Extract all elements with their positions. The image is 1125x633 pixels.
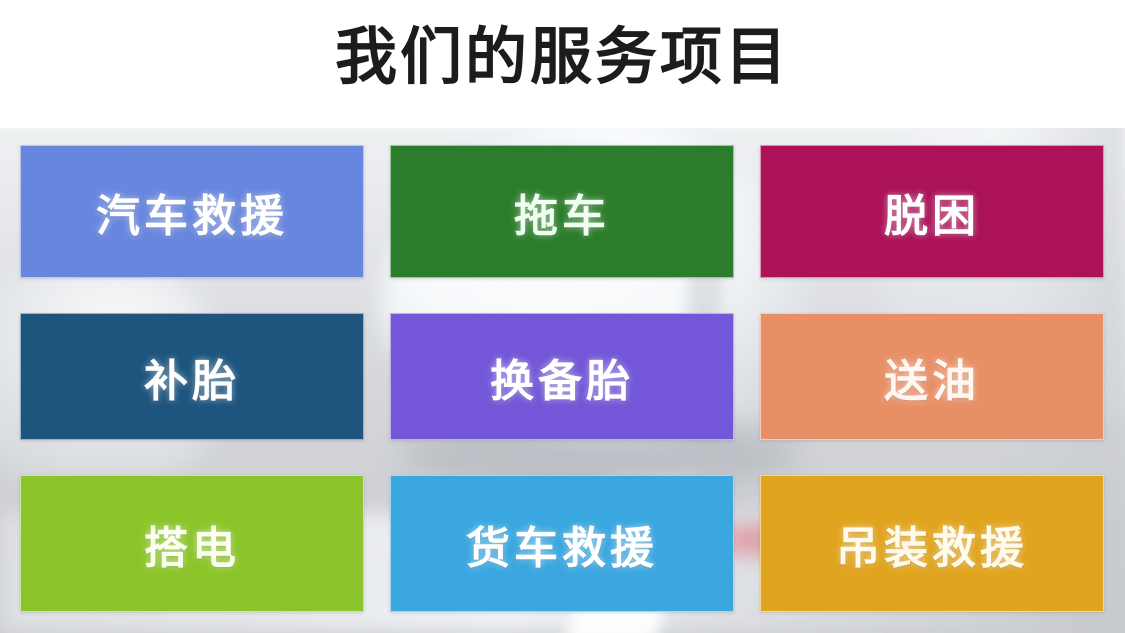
service-tile-label: 换备胎 <box>490 345 634 409</box>
service-tile-huoche-jiuyuan[interactable]: 货车救援 <box>390 475 734 612</box>
service-tile-label: 汽车救援 <box>96 180 288 244</box>
service-tile-label: 搭电 <box>144 512 240 576</box>
service-poster: 我们的服务项目 汽车救援 拖车 脱困 补胎 换备胎 送油 搭电 货车救援 吊装救… <box>0 0 1125 633</box>
service-tile-label: 吊装救援 <box>836 512 1028 576</box>
service-tile-label: 脱困 <box>884 180 980 244</box>
service-tile-dadian[interactable]: 搭电 <box>20 475 364 612</box>
service-tile-label: 补胎 <box>144 345 240 409</box>
service-tile-tuokun[interactable]: 脱困 <box>760 145 1104 278</box>
service-tile-label: 拖车 <box>514 180 610 244</box>
service-tile-butai[interactable]: 补胎 <box>20 313 364 440</box>
service-tile-grid: 汽车救援 拖车 脱困 补胎 换备胎 送油 搭电 货车救援 吊装救援 <box>20 145 1105 615</box>
service-tile-label: 货车救援 <box>466 512 658 576</box>
service-tile-qiche-jiuyuan[interactable]: 汽车救援 <box>20 145 364 278</box>
service-tile-tuoche[interactable]: 拖车 <box>390 145 734 278</box>
service-tile-huanbeitai[interactable]: 换备胎 <box>390 313 734 440</box>
service-tile-songyou[interactable]: 送油 <box>760 313 1104 440</box>
service-tile-diaozhuang-jiuyuan[interactable]: 吊装救援 <box>760 475 1104 612</box>
service-tile-label: 送油 <box>884 345 980 409</box>
page-title: 我们的服务项目 <box>0 24 1125 92</box>
